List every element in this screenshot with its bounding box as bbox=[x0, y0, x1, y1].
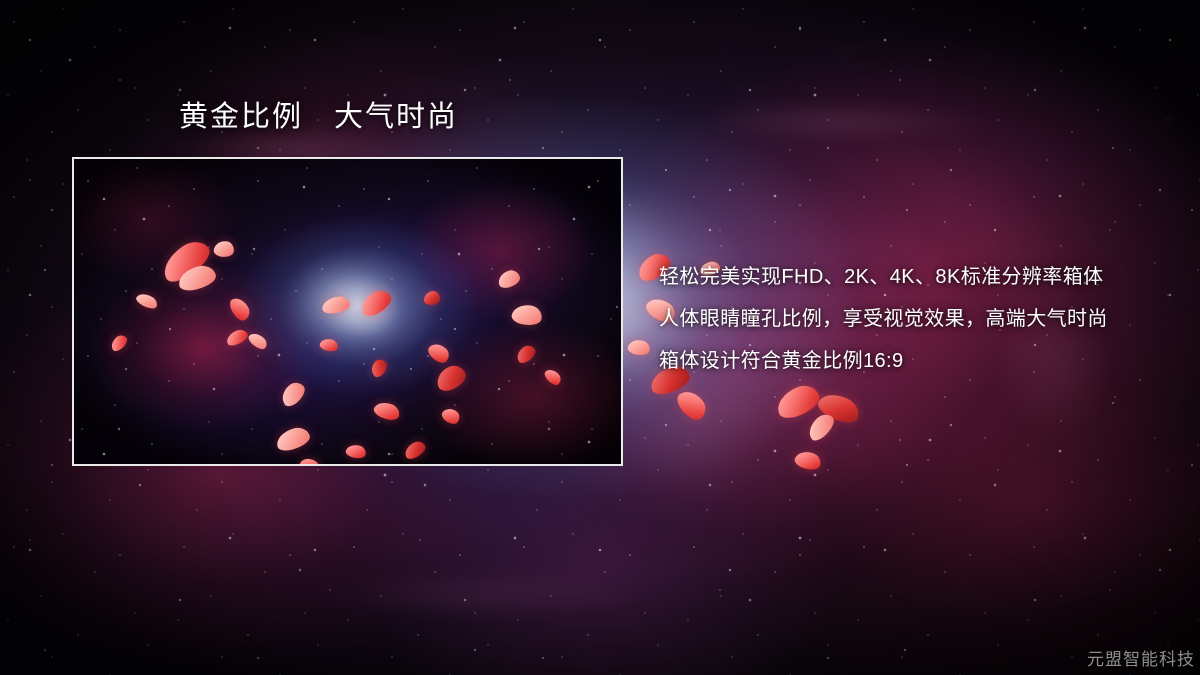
petal-icon bbox=[815, 388, 863, 428]
inner-core-glow bbox=[74, 159, 621, 464]
petal-icon bbox=[627, 338, 652, 357]
body-line: 箱体设计符合黄金比例16:9 bbox=[659, 340, 1179, 382]
petal-icon bbox=[793, 448, 823, 472]
framed-image bbox=[72, 157, 623, 466]
page-title: 黄金比例 大气时尚 bbox=[179, 100, 458, 135]
body-copy: 轻松完美实现FHD、2K、4K、8K标准分辨率箱体 人体眼睛瞳孔比例，享受视觉效… bbox=[659, 256, 1179, 382]
body-line: 轻松完美实现FHD、2K、4K、8K标准分辨率箱体 bbox=[659, 256, 1179, 298]
presentation-slide: 黄金比例 大气时尚 轻松完美实现FHD、2K、4K、8K标准分辨率箱体 人体眼睛… bbox=[0, 0, 1200, 675]
petal-icon bbox=[773, 381, 824, 423]
body-line: 人体眼睛瞳孔比例，享受视觉效果，高端大气时尚 bbox=[659, 298, 1179, 340]
petal-icon bbox=[804, 410, 838, 444]
watermark: 元盟智能科技 bbox=[1087, 645, 1195, 670]
petal-icon bbox=[673, 386, 710, 425]
